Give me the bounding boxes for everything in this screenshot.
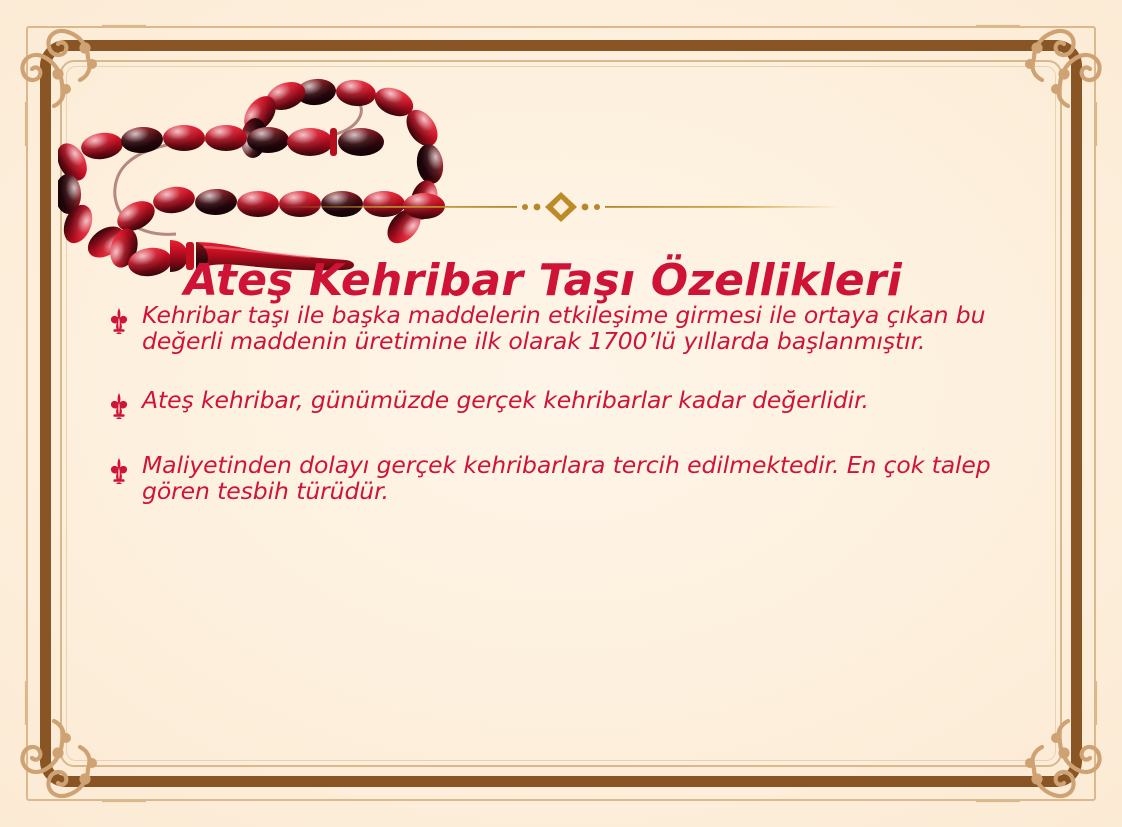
corner-ornament-bottom-right (966, 671, 1116, 821)
list-item-text: Kehribar taşı ile başka maddelerin etkil… (142, 302, 1034, 355)
corner-ornament-bottom-left (6, 671, 156, 821)
list-item-text: Maliyetinden dolayı gerçek kehribarlara … (142, 452, 1034, 505)
info-card: Ateş Kehribar Taşı Özellikleri Kehribar … (0, 0, 1122, 827)
list-item: Ateş kehribar, günümüzde gerçek kehribar… (104, 387, 1034, 420)
feature-list: Kehribar taşı ile başka maddelerin etkil… (104, 302, 1034, 504)
list-item-text: Ateş kehribar, günümüzde gerçek kehribar… (142, 387, 1034, 413)
fleur-de-lis-bullet-icon (104, 392, 134, 420)
corner-ornament-top-right (966, 6, 1116, 156)
fleur-de-lis-bullet-icon (104, 457, 134, 485)
list-item: Kehribar taşı ile başka maddelerin etkil… (104, 302, 1034, 355)
fleur-de-lis-bullet-icon (104, 307, 134, 335)
page-title: Ateş Kehribar Taşı Özellikleri (0, 255, 1086, 306)
list-item: Maliyetinden dolayı gerçek kehribarlara … (104, 452, 1034, 505)
